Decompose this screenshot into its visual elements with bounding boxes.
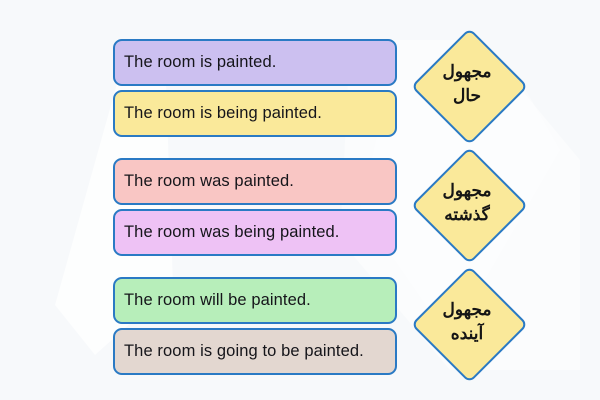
sentence-text: The room is being painted. [124, 104, 322, 123]
sentence-card-future-will[interactable]: The room will be painted. [113, 277, 397, 324]
sentence-text: The room will be painted. [124, 291, 311, 310]
sentence-card-present-simple[interactable]: The room is painted. [113, 39, 397, 86]
spacer [113, 137, 397, 158]
tense-label-past[interactable]: مجهول گذشته [411, 147, 523, 259]
sentence-card-list: The room is painted. The room is being p… [113, 39, 397, 375]
sentence-card-future-going-to[interactable]: The room is going to be painted. [113, 328, 397, 375]
diamond-label: مجهول آینده [411, 266, 523, 378]
tense-label-future[interactable]: مجهول آینده [411, 266, 523, 378]
sentence-text: The room is painted. [124, 53, 276, 72]
diamond-label-line1: مجهول [442, 298, 491, 322]
spacer [113, 256, 397, 277]
diamond-label-line2: حال [453, 84, 481, 108]
sentence-text: The room is going to be painted. [124, 342, 364, 361]
diamond-label-line1: مجهول [442, 179, 491, 203]
sentence-text: The room was painted. [124, 172, 294, 191]
diamond-label-line1: مجهول [442, 60, 491, 84]
diagram-canvas: The room is painted. The room is being p… [0, 0, 600, 400]
sentence-text: The room was being painted. [124, 223, 340, 242]
diamond-label-line2: آینده [451, 322, 483, 346]
tense-label-present[interactable]: مجهول حال [411, 28, 523, 140]
diamond-label-line2: گذشته [444, 203, 490, 227]
sentence-card-past-continuous[interactable]: The room was being painted. [113, 209, 397, 256]
sentence-card-present-continuous[interactable]: The room is being painted. [113, 90, 397, 137]
tense-label-list: مجهول حال مجهول گذشته مجهول آینده [411, 28, 523, 378]
diamond-label: مجهول گذشته [411, 147, 523, 259]
sentence-card-past-simple[interactable]: The room was painted. [113, 158, 397, 205]
diamond-label: مجهول حال [411, 28, 523, 140]
